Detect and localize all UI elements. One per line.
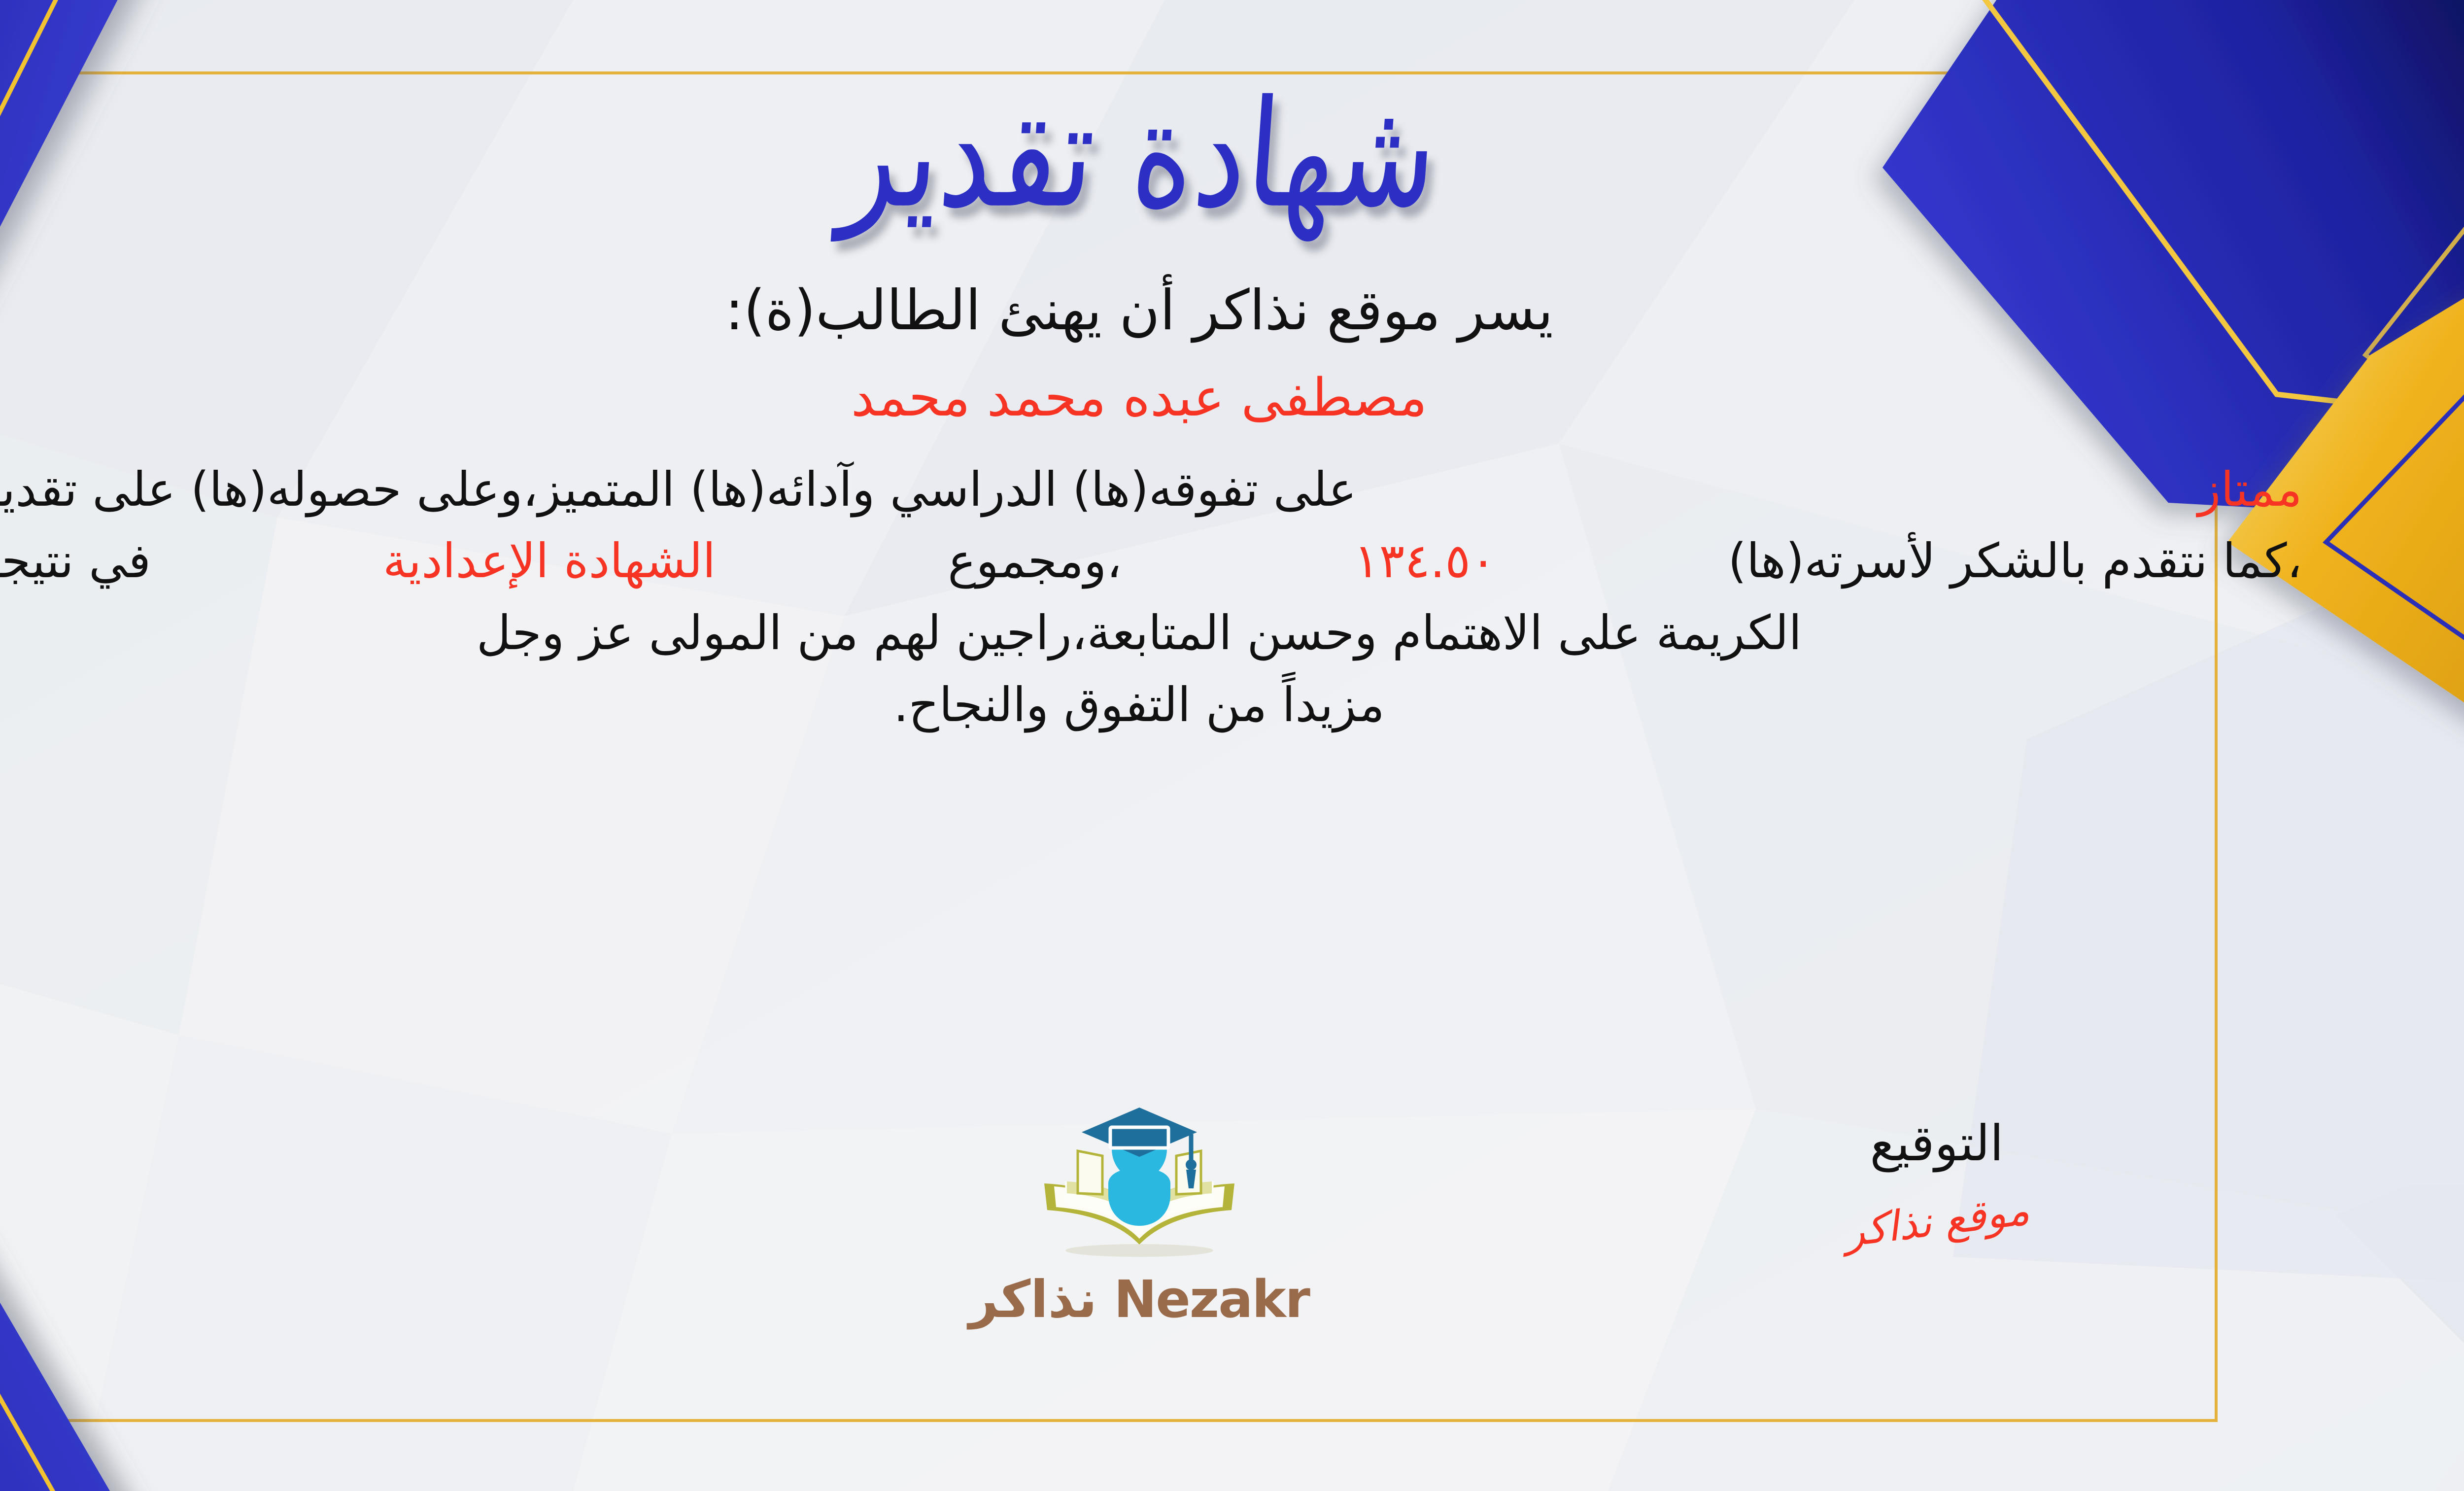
body-line-2-prefix: في نتيجة: [0, 525, 151, 597]
body-line-2-suffix: ،كما نتقدم بالشكر لأسرته(ها): [1728, 525, 2302, 597]
graduate-open-book-logo-icon: [1024, 1097, 1255, 1274]
title-container: شهادة تقدير: [0, 80, 2365, 228]
certificate-page: شهادة تقدير يسر موقع نذاكر أن يهنئ الطال…: [0, 0, 2464, 1491]
exam-name: الشهادة الإعدادية: [383, 525, 716, 597]
student-name: مصطفى عبده محمد محمد: [851, 366, 1427, 429]
body-line-2-mid: ،ومجموع: [948, 525, 1122, 597]
body-line-2: ،كما نتقدم بالشكر لأسرته(ها) ١٣٤.٥٠ ،ومج…: [0, 525, 2302, 597]
salutation-text: يسر موقع نذاكر أن يهنئ الطالب(ة):: [725, 277, 1553, 344]
body-line-4: مزيداً من التفوق والنجاح.: [0, 669, 2302, 741]
brand-logo-text: Nezakr نذاكر: [969, 1269, 1309, 1329]
brand-logo: Nezakr نذاكر: [0, 1097, 2365, 1329]
body-line-1-text: على تفوقه(ها) الدراسي وآدائه(ها) المتميز…: [0, 454, 1357, 526]
body-line-3: الكريمة على الاهتمام وحسن المتابعة،راجين…: [0, 597, 2302, 669]
grade-value: ممتاز: [2198, 454, 2302, 526]
certificate-footer: التوقيع موقع نذاكر: [0, 1097, 2365, 1412]
body-paragraph: ممتاز على تفوقه(ها) الدراسي وآدائه(ها) ا…: [0, 454, 2302, 742]
total-score: ١٣٤.٥٠: [1354, 525, 1496, 597]
certificate-content: شهادة تقدير يسر موقع نذاكر أن يهنئ الطال…: [0, 71, 2365, 1422]
body-line-1: ممتاز على تفوقه(ها) الدراسي وآدائه(ها) ا…: [0, 454, 2302, 526]
page-title: شهادة تقدير: [836, 80, 1441, 228]
